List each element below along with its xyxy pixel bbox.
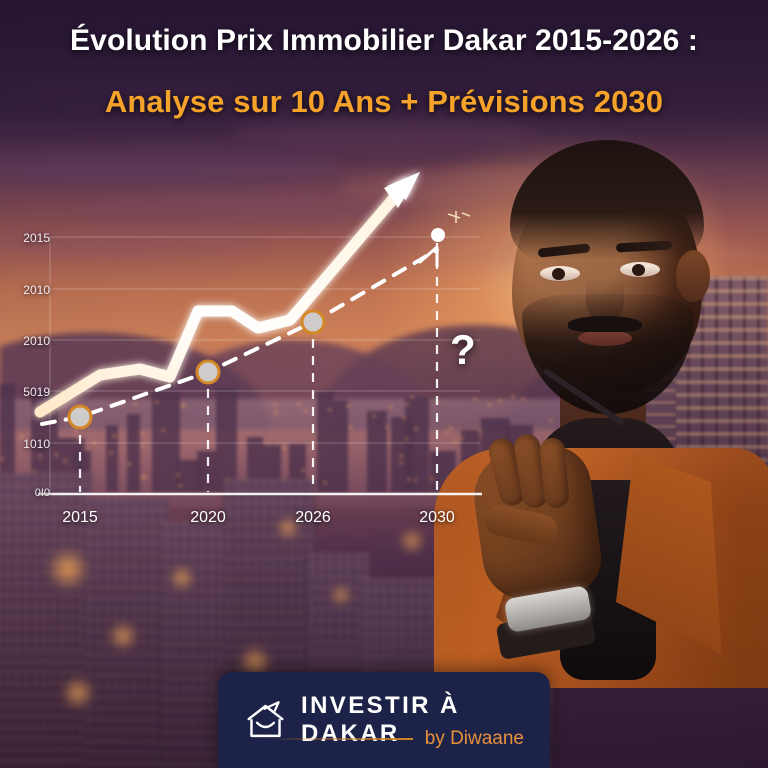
x-tick-label: 2026 <box>278 509 348 527</box>
y-tick-label: 5019 <box>4 385 50 399</box>
brand-byline-row: by Diwaane <box>267 728 524 750</box>
eye <box>620 262 660 277</box>
y-tick-label: 2010 <box>4 334 50 348</box>
gridlines <box>50 237 480 443</box>
y-tick-label: 2015 <box>4 231 50 245</box>
title-line-2: Analyse sur 10 Ans + Prévisions 2030 <box>0 84 768 120</box>
beard <box>522 294 694 414</box>
x-tick-label: 2020 <box>173 509 243 527</box>
forecast-dashed-line <box>42 250 437 424</box>
poster-headline: Évolution Prix Immobilier Dakar 2015-202… <box>0 24 768 120</box>
sparkle-icon <box>448 211 470 223</box>
brand-byline: by Diwaane <box>425 728 524 750</box>
eye <box>540 266 580 281</box>
question-mark-annotation: ? <box>450 326 476 374</box>
x-tick-label: 2030 <box>402 509 472 527</box>
brand-badge[interactable]: INVESTIR À DAKAR by Diwaane <box>218 672 550 768</box>
price-line <box>40 185 405 412</box>
title-line-1: Évolution Prix Immobilier Dakar 2015-202… <box>0 24 768 58</box>
mouth <box>578 330 632 346</box>
divider <box>267 738 413 740</box>
moustache <box>568 316 642 332</box>
poster-canvas: 2015 2010 2010 5019 1010 0I0 2015 2020 2… <box>0 0 768 768</box>
y-tick-label: 1010 <box>4 437 50 451</box>
x-tick-label: 2015 <box>45 509 115 527</box>
y-tick-label: 2010 <box>4 283 50 297</box>
hair <box>510 140 704 260</box>
y-tick-label: 0I0 <box>4 487 50 499</box>
